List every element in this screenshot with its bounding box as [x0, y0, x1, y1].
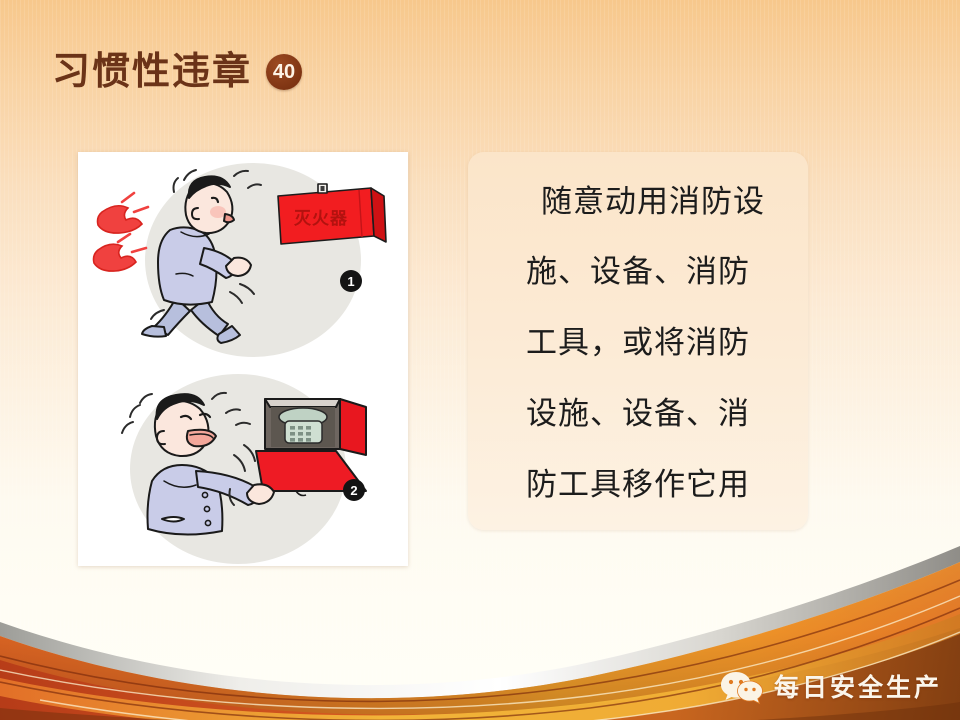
title-label: 习惯性违章 [52, 53, 252, 91]
description-line-3: 工具，或将消防 [488, 325, 788, 361]
description-line-1: 随意动用消防设 [488, 184, 788, 220]
description-card: 随意动用消防设 施、设备、消防 工具，或将消防 设施、设备、消 防工具移作它用 [468, 152, 808, 530]
description-line-5: 防工具移作它用 [488, 467, 788, 503]
flame-group [94, 206, 143, 271]
panel-number-badge-1: 1 [340, 270, 362, 292]
cartoon-panel-1: 灭火器 [78, 152, 408, 359]
title-number-badge: 40 [266, 54, 302, 90]
telephone [279, 408, 327, 443]
illustration-panel: 灭火器 [78, 152, 408, 566]
panel-number-badge-2: 2 [343, 479, 365, 501]
cartoon-1-artwork: 灭火器 [78, 152, 408, 359]
brand-name-label: 每日安全生产 [774, 676, 942, 701]
description-line-4: 设施、设备、消 [488, 396, 788, 432]
extinguisher-box-label: 灭火器 [293, 209, 348, 228]
slide-canvas: 习惯性违章 40 [0, 0, 960, 720]
page-title: 习惯性违章 40 [52, 44, 302, 100]
wechat-icon [720, 670, 764, 706]
footer-brand: 每日安全生产 [720, 670, 942, 706]
description-line-2: 施、设备、消防 [488, 254, 788, 290]
